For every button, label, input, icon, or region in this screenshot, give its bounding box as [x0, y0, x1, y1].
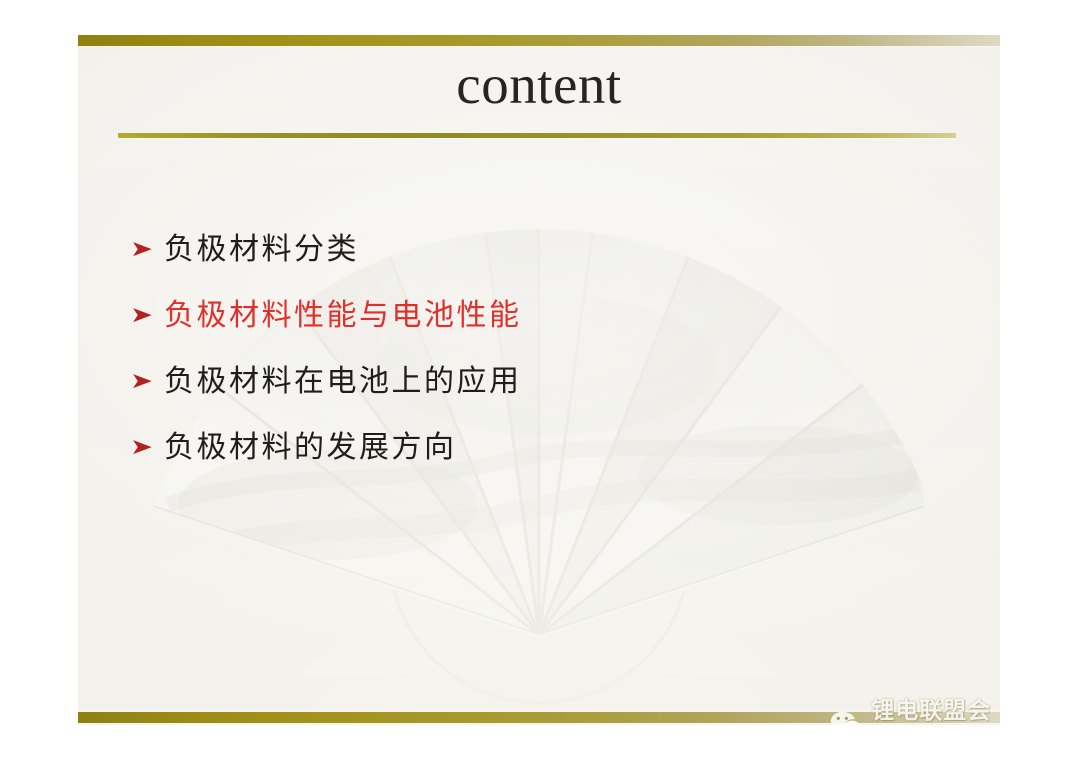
list-item[interactable]: ➤ 负极材料在电池上的应用 — [130, 349, 830, 415]
list-item[interactable]: ➤ 负极材料性能与电池性能 — [130, 283, 830, 349]
arrow-bullet-icon: ➤ — [130, 371, 173, 393]
watermark: 锂电联盟会长 — [830, 696, 1000, 725]
list-item[interactable]: ➤ 负极材料分类 — [130, 217, 830, 283]
arrow-bullet-icon: ➤ — [130, 239, 173, 261]
presentation-slide: content ➤ 负极材料分类 ➤ 负极材料性能与电池性能 ➤ 负极材料在电池… — [78, 35, 1000, 725]
list-item-label: 负极材料分类 — [164, 231, 359, 269]
list-item-label: 负极材料性能与电池性能 — [164, 297, 522, 335]
list-item-label: 负极材料在电池上的应用 — [164, 363, 522, 401]
list-item[interactable]: ➤ 负极材料的发展方向 — [130, 415, 830, 481]
page-title: content — [78, 53, 1000, 117]
agenda-list: ➤ 负极材料分类 ➤ 负极材料性能与电池性能 ➤ 负极材料在电池上的应用 ➤ 负… — [130, 217, 830, 481]
arrow-bullet-icon: ➤ — [130, 305, 173, 327]
watermark-label: 锂电联盟会长 — [871, 696, 1000, 725]
wechat-icon — [830, 709, 862, 725]
arrow-bullet-icon: ➤ — [130, 437, 173, 459]
title-divider — [118, 133, 956, 138]
top-gold-border — [78, 35, 1000, 46]
list-item-label: 负极材料的发展方向 — [164, 429, 457, 467]
